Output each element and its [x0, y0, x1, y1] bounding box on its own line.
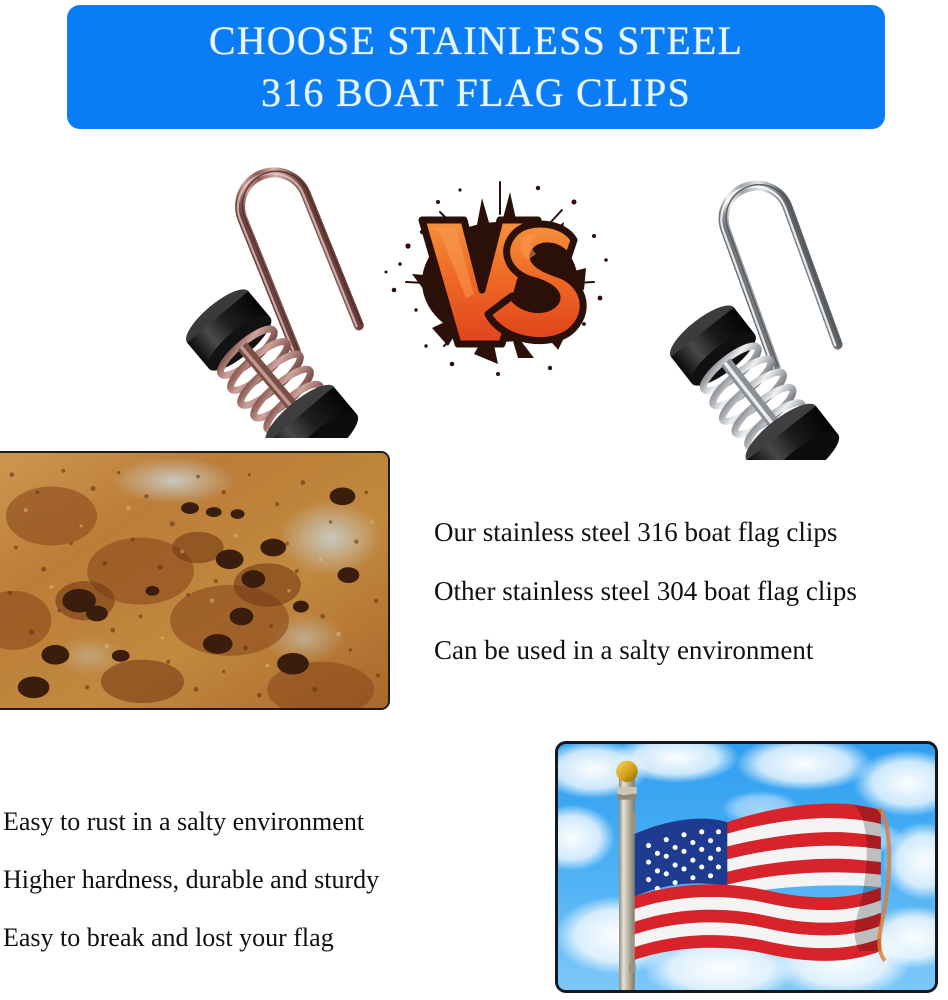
header-banner: CHOOSE STAINLESS STEEL 316 BOAT FLAG CLI…: [67, 5, 885, 129]
feature-right-3: Can be used in a salty environment: [434, 621, 948, 680]
banner-title-line-2: 316 BOAT FLAG CLIPS: [261, 67, 691, 119]
feature-bottom-3: Easy to break and lost your flag: [3, 909, 523, 967]
feature-bottom-1: Easy to rust in a salty environment: [3, 793, 523, 851]
feature-right-2: Other stainless steel 304 boat flag clip…: [434, 562, 948, 621]
american-flag-photo: [555, 741, 938, 993]
product-infographic: CHOOSE STAINLESS STEEL 316 BOAT FLAG CLI…: [0, 0, 948, 1000]
feature-bottom-2: Higher hardness, durable and sturdy: [3, 851, 523, 909]
features-bottom-left-list: Easy to rust in a salty environment High…: [3, 793, 523, 967]
versus-graphic: [378, 178, 622, 383]
features-right-list: Our stainless steel 316 boat flag clips …: [434, 503, 948, 680]
rust-texture-photo: [0, 451, 390, 710]
banner-title-line-1: CHOOSE STAINLESS STEEL: [209, 15, 743, 67]
feature-right-1: Our stainless steel 316 boat flag clips: [434, 503, 948, 562]
rusted-flag-clip-illustration: [128, 138, 396, 438]
stainless-flag-clip-illustration: [620, 148, 870, 460]
